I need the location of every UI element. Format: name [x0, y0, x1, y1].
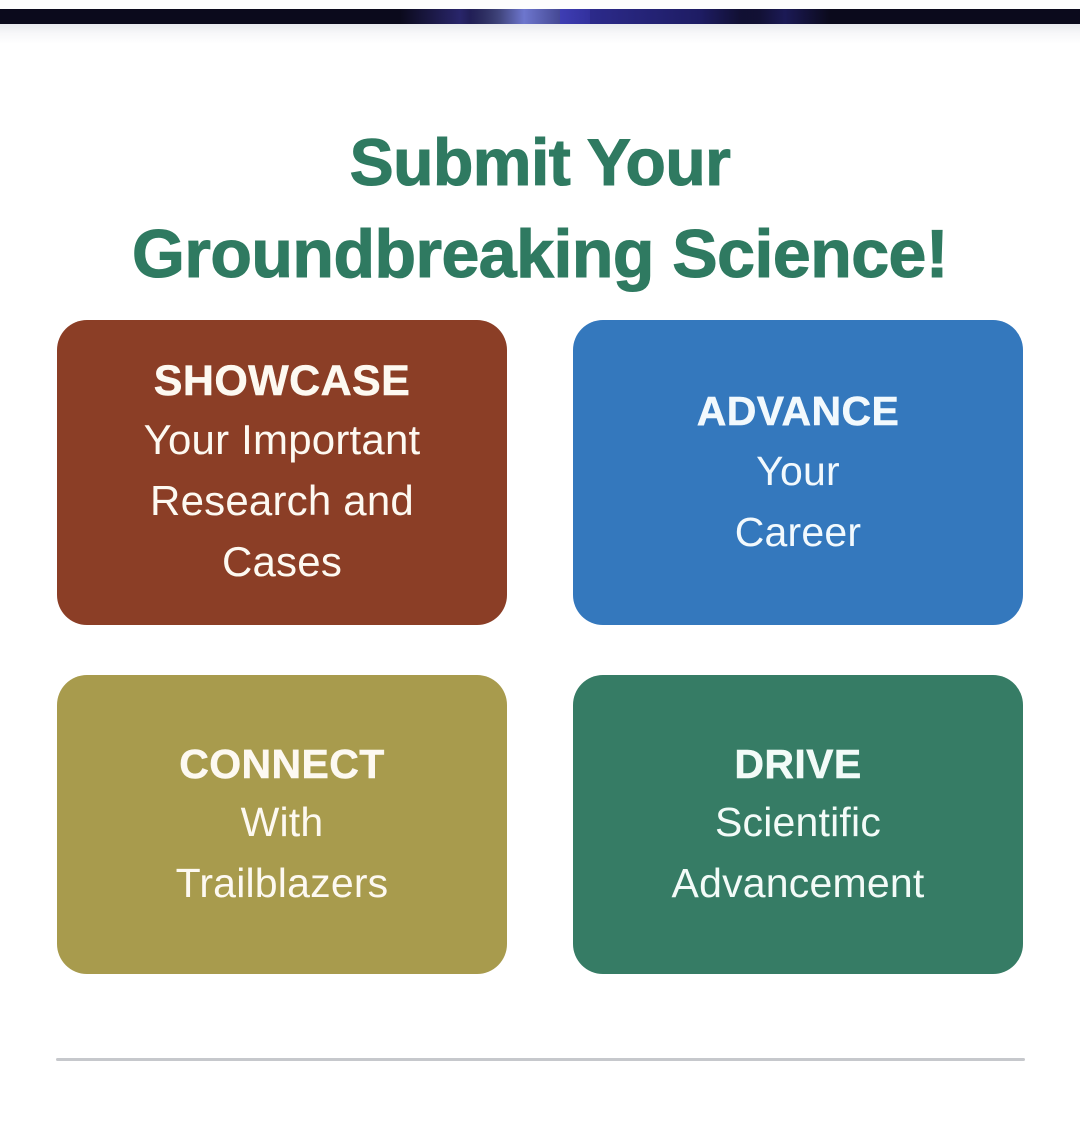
chrome-glow-c	[560, 9, 760, 24]
card-body-line: Your Important	[144, 409, 421, 470]
benefit-card-drive[interactable]: DRIVE Scientific Advancement	[573, 675, 1023, 974]
card-kicker-connect: CONNECT	[179, 736, 385, 792]
benefit-card-grid: SHOWCASE Your Important Research and Cas…	[57, 320, 1023, 974]
browser-top-chrome	[0, 0, 1080, 40]
card-body-line: With	[176, 792, 389, 853]
browser-chrome-band[interactable]	[0, 9, 1080, 24]
benefit-card-showcase[interactable]: SHOWCASE Your Important Research and Cas…	[57, 320, 507, 625]
chrome-glow-d	[740, 9, 830, 24]
card-kicker-advance: ADVANCE	[697, 383, 900, 439]
card-body-line: Cases	[144, 531, 421, 592]
benefit-card-advance[interactable]: ADVANCE Your Career	[573, 320, 1023, 625]
card-body-advance: Your Career	[735, 441, 862, 563]
benefit-card-connect[interactable]: CONNECT With Trailblazers	[57, 675, 507, 974]
card-body-line: Career	[735, 502, 862, 563]
card-body-drive: Scientific Advancement	[672, 792, 925, 914]
card-body-connect: With Trailblazers	[176, 792, 389, 914]
page-top-fade	[0, 24, 1080, 44]
card-kicker-showcase: SHOWCASE	[154, 353, 410, 409]
status-bar-sliver	[0, 0, 1080, 9]
card-body-showcase: Your Important Research and Cases	[144, 409, 421, 592]
card-body-line: Trailblazers	[176, 853, 389, 914]
page-title-line-1: Submit Your	[0, 116, 1080, 208]
card-body-line: Your	[735, 441, 862, 502]
page-title: Submit Your Groundbreaking Science!	[0, 116, 1080, 300]
card-body-line: Scientific	[672, 792, 925, 853]
card-body-line: Advancement	[672, 853, 925, 914]
footer-divider	[56, 1058, 1025, 1061]
card-kicker-drive: DRIVE	[734, 736, 861, 792]
card-body-line: Research and	[144, 470, 421, 531]
page-title-line-2: Groundbreaking Science!	[0, 208, 1080, 300]
